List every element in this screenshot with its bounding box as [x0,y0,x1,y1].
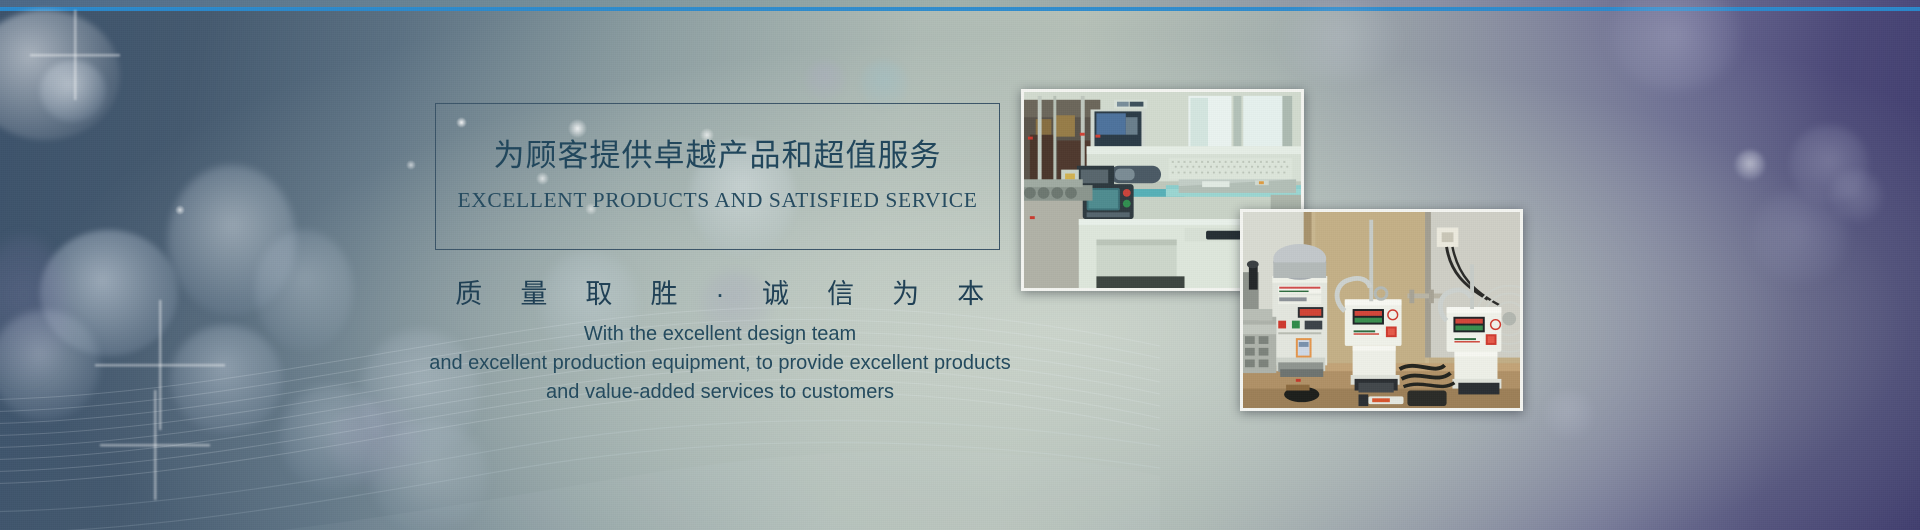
headline-frame [435,103,1000,250]
bokeh-circle [168,165,296,315]
glint-dot [175,205,185,215]
slogan-char: 取 [585,279,613,309]
bokeh-circle [1790,125,1868,203]
paragraph-line: and excellent production equipment, to p… [330,349,1110,378]
grain-overlay [0,0,1920,530]
bokeh-circle [1752,190,1847,282]
bokeh-circle [860,60,908,108]
top-accent-rule [0,7,1920,11]
paragraph-line: With the excellent design team [330,320,1110,349]
bokeh-circle [1545,390,1593,438]
photo-press-machines-image [1243,212,1520,408]
bokeh-circle [330,400,420,488]
photo-press-machines[interactable] [1240,209,1523,411]
bokeh-circle [805,60,845,100]
headline-english: EXCELLENT PRODUCTS AND SATISFIED SERVICE [435,188,1000,213]
slogan-char: 本 [957,279,985,309]
slogan-char: 胜 [650,279,678,309]
slogan-char: 质 [455,279,483,309]
sparkle-icon [95,300,225,430]
slogan-chinese: 质 量 取 胜 · 诚 信 为 本 [400,272,1040,311]
slogan-char: 为 [892,279,920,309]
sparkle-icon [100,390,210,500]
bokeh-circle [0,310,100,420]
bokeh-circle [40,230,178,356]
hero-banner: 为顾客提供卓越产品和超值服务 EXCELLENT PRODUCTS AND SA… [0,0,1920,530]
slogan-separator-dot: · [716,279,725,309]
bokeh-circle [1280,0,1400,80]
bokeh-circle [1830,170,1882,222]
paragraph-line: and value-added services to customers [330,378,1110,407]
bokeh-circle [1735,150,1765,180]
glint-dot [406,160,416,170]
slogan-char: 量 [520,279,548,309]
bokeh-circle [370,420,488,530]
bokeh-circle [1610,0,1740,90]
slogan-char: 信 [827,279,855,309]
description-paragraph: With the excellent design team and excel… [330,320,1110,407]
bokeh-circle [170,325,282,433]
sparkle-icon [30,10,120,100]
bokeh-circle [40,60,106,122]
bokeh-circle [0,235,68,385]
headline-chinese: 为顾客提供卓越产品和超值服务 [435,130,1000,175]
slogan-char: 诚 [762,279,790,309]
bokeh-circle [0,10,120,140]
